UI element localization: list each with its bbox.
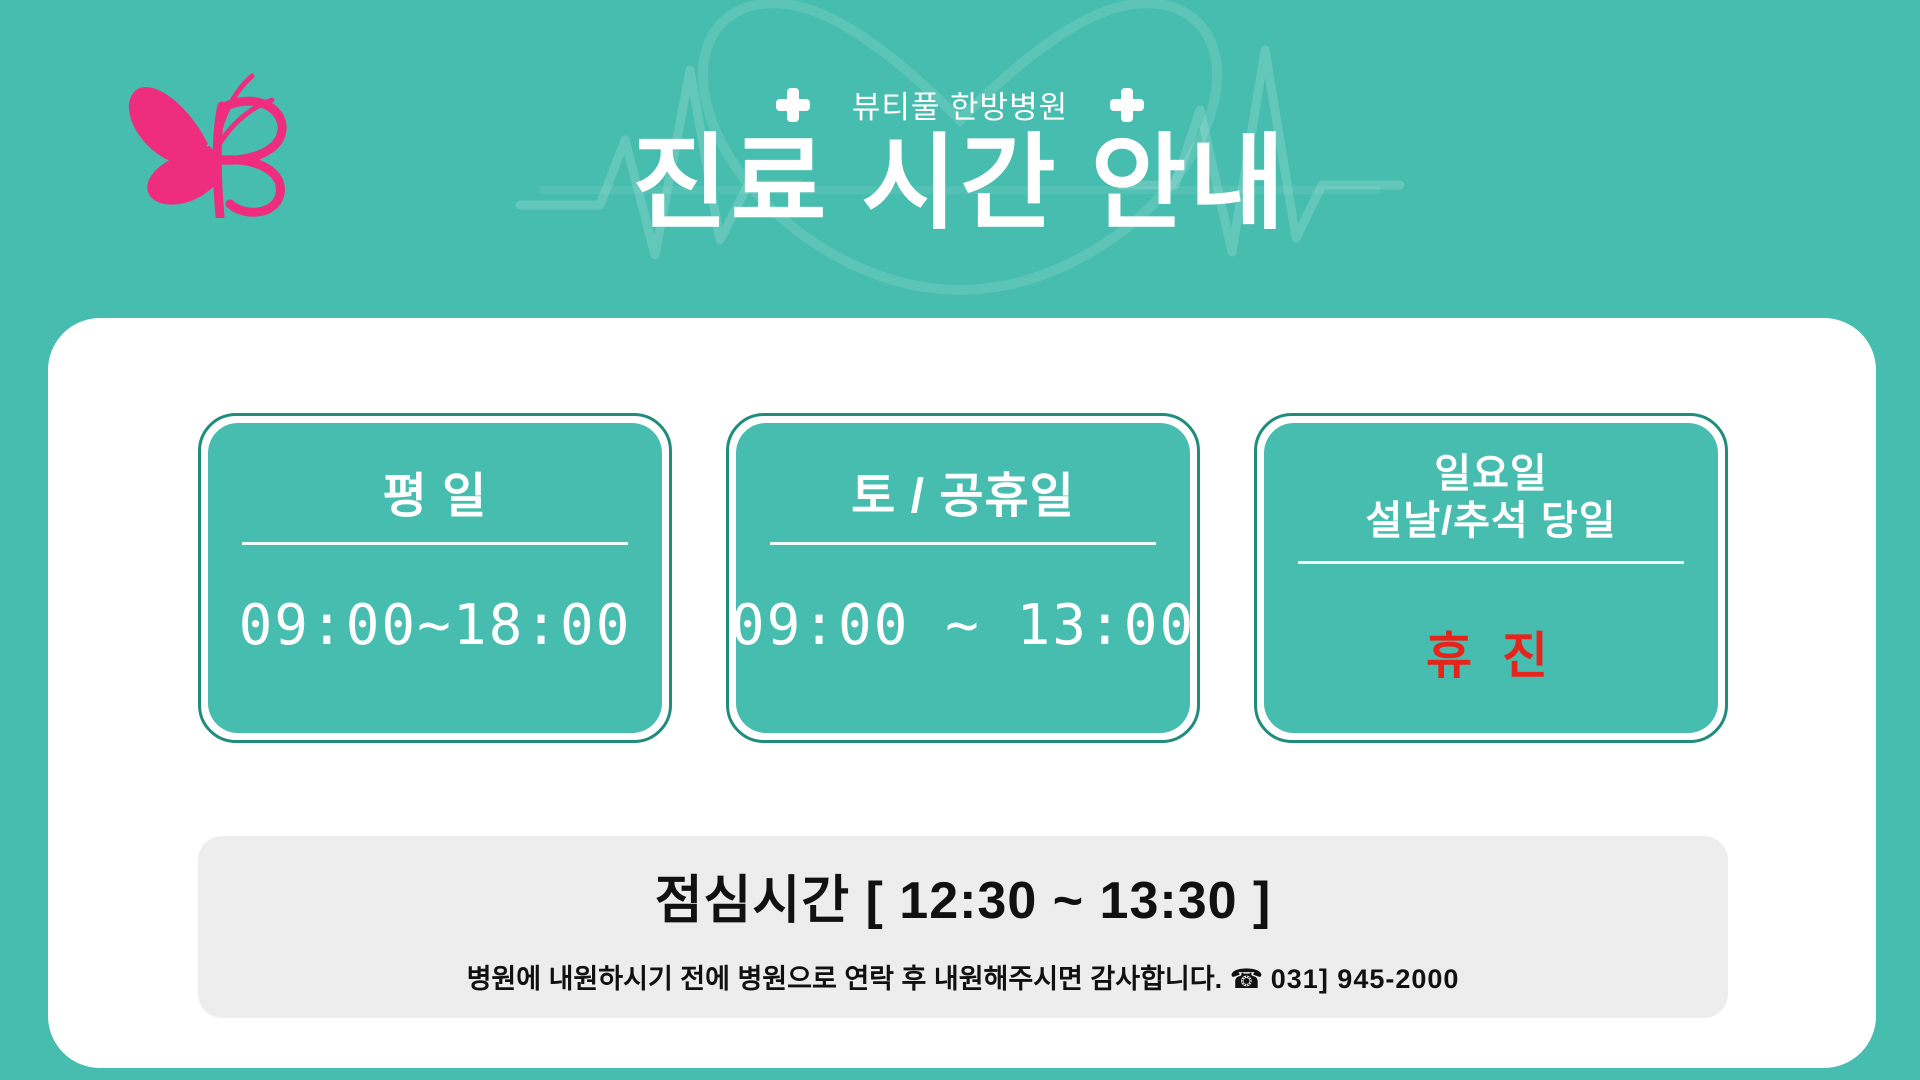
notice-box: 점심시간 [ 12:30 ~ 13:30 ] 병원에 내원하시기 전에 병원으로…: [198, 836, 1728, 1018]
schedule-card-sunday-closed: 일요일 설날/추석 당일 휴 진: [1254, 413, 1728, 743]
header: 뷰티풀 한방병원 진료 시간 안내: [0, 0, 1920, 320]
medical-cross-icon-left: [776, 88, 810, 122]
schedule-card-sunday-closed-status: 휴 진: [1426, 616, 1556, 688]
medical-cross-icon-right: [1110, 88, 1144, 122]
card-divider: [770, 542, 1156, 545]
schedule-card-saturday-holiday-hours: 09:00 ~ 13:00: [731, 593, 1195, 658]
schedule-card-weekday-title: 평 일: [383, 449, 488, 526]
page-title: 진료 시간 안내: [0, 125, 1920, 245]
brand-name: 뷰티풀 한방병원: [852, 82, 1068, 127]
card-divider: [242, 542, 628, 545]
schedule-card-saturday-holiday: 토 / 공휴일 09:00 ~ 13:00: [726, 413, 1200, 743]
schedule-card-saturday-holiday-title: 토 / 공휴일: [851, 449, 1075, 526]
card-divider: [1298, 561, 1684, 564]
schedule-card-sunday-closed-title-line2: 설날/추석 당일: [1365, 498, 1616, 545]
lunch-time-label: 점심시간 [ 12:30 ~ 13:30 ]: [655, 858, 1272, 933]
schedule-card-sunday-closed-title-line1: 일요일: [1365, 451, 1616, 498]
schedule-card-weekday-hours: 09:00~18:00: [239, 593, 632, 658]
phone-number: 031] 945-2000: [1271, 964, 1460, 994]
brand-row: 뷰티풀 한방병원: [0, 82, 1920, 127]
visit-instruction-text: 병원에 내원하시기 전에 병원으로 연락 후 내원해주시면 감사합니다.: [467, 964, 1223, 994]
telephone-icon: ☎: [1230, 964, 1264, 994]
visit-instruction-row: 병원에 내원하시기 전에 병원으로 연락 후 내원해주시면 감사합니다. ☎ 0…: [467, 957, 1460, 996]
schedule-card-sunday-closed-title: 일요일 설날/추석 당일: [1365, 449, 1616, 545]
content-panel: 평 일 09:00~18:00 토 / 공휴일 09:00 ~ 13:00 일요…: [48, 318, 1876, 1068]
schedule-card-weekday: 평 일 09:00~18:00: [198, 413, 672, 743]
schedule-card-list: 평 일 09:00~18:00 토 / 공휴일 09:00 ~ 13:00 일요…: [198, 413, 1728, 743]
